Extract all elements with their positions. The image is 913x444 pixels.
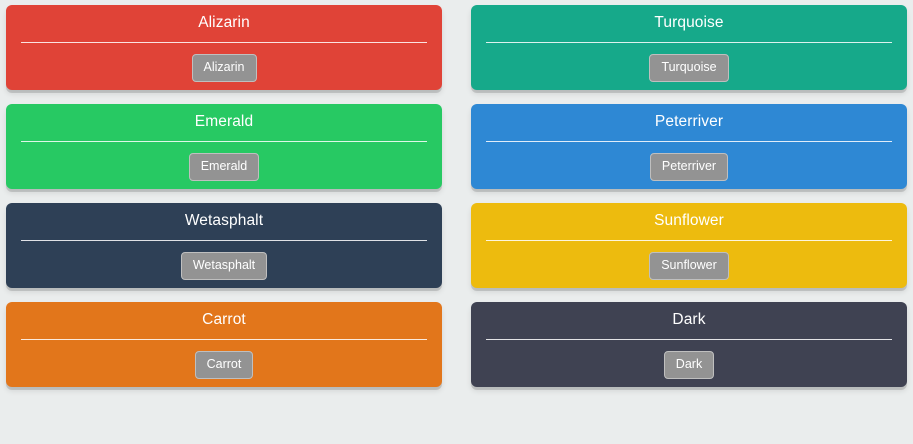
card-button-turquoise[interactable]: Turquoise [649,54,728,82]
card-title: Alizarin [20,11,428,33]
card-action-row: Sunflower [485,252,893,280]
card-divider [486,339,892,340]
card-title: Emerald [20,110,428,132]
card-title: Dark [485,308,893,330]
card-wetasphalt: WetasphaltWetasphalt [6,203,442,288]
card-action-row: Dark [485,351,893,379]
card-emerald: EmeraldEmerald [6,104,442,189]
card-button-alizarin[interactable]: Alizarin [192,54,257,82]
card-turquoise: TurquoiseTurquoise [471,5,907,90]
card-peterriver: PeterriverPeterriver [471,104,907,189]
card-button-emerald[interactable]: Emerald [189,153,260,181]
card-title: Wetasphalt [20,209,428,231]
card-button-dark[interactable]: Dark [664,351,714,379]
card-alizarin: AlizarinAlizarin [6,5,442,90]
card-action-row: Turquoise [485,54,893,82]
card-grid: AlizarinAlizarinTurquoiseTurquoiseEmeral… [0,0,913,387]
card-action-row: Emerald [20,153,428,181]
card-action-row: Peterriver [485,153,893,181]
card-divider [486,42,892,43]
card-action-row: Alizarin [20,54,428,82]
card-sunflower: SunflowerSunflower [471,203,907,288]
card-dark: DarkDark [471,302,907,387]
card-button-peterriver[interactable]: Peterriver [650,153,728,181]
card-divider [21,42,427,43]
card-divider [21,141,427,142]
card-carrot: CarrotCarrot [6,302,442,387]
card-action-row: Wetasphalt [20,252,428,280]
card-action-row: Carrot [20,351,428,379]
card-divider [21,240,427,241]
card-title: Turquoise [485,11,893,33]
card-divider [21,339,427,340]
card-button-carrot[interactable]: Carrot [195,351,254,379]
card-title: Peterriver [485,110,893,132]
card-title: Carrot [20,308,428,330]
card-button-sunflower[interactable]: Sunflower [649,252,729,280]
card-title: Sunflower [485,209,893,231]
card-divider [486,141,892,142]
card-button-wetasphalt[interactable]: Wetasphalt [181,252,267,280]
card-divider [486,240,892,241]
